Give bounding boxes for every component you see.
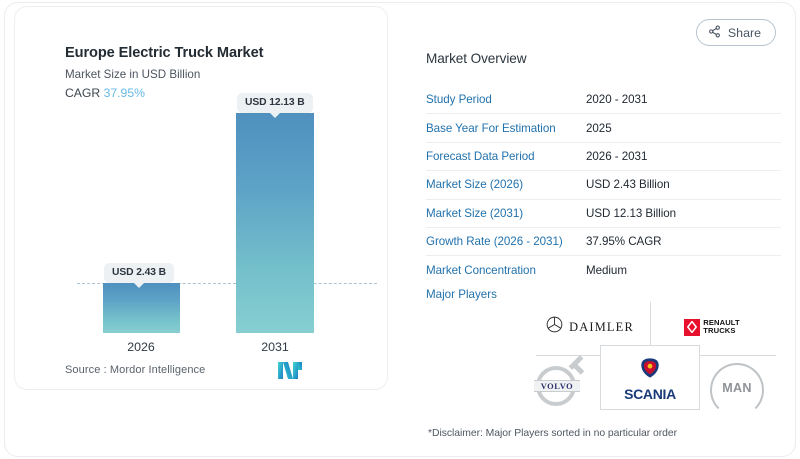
man-logo-inner: MAN	[708, 361, 766, 401]
scania-griffin-icon	[639, 357, 661, 384]
table-row: Forecast Data Period 2026 - 2031	[426, 143, 781, 171]
scania-logo: SCANIA	[602, 350, 698, 408]
volvo-wordmark: VOLVO	[541, 382, 574, 391]
row-value: 2025	[586, 122, 781, 135]
market-overview-title: Market Overview	[426, 51, 526, 66]
table-row: Market Size (2031) USD 12.13 Billion	[426, 200, 781, 228]
table-row: Base Year For Estimation 2025	[426, 114, 781, 142]
share-button-label: Share	[728, 26, 761, 40]
renault-diamond-icon	[684, 319, 700, 336]
x-tick-2026: 2026	[101, 339, 181, 355]
right-panel: Share Market Overview Study Period 2020 …	[404, 6, 792, 455]
source-row: Source : Mordor Intelligence	[65, 362, 355, 382]
table-row: Market Concentration Medium	[426, 256, 781, 284]
share-button[interactable]: Share	[696, 19, 776, 46]
row-value: Medium	[586, 264, 781, 277]
x-tick-2031: 2031	[235, 339, 315, 355]
row-key: Growth Rate (2026 - 2031)	[426, 235, 586, 248]
renault-wordmark: RENAULT TRUCKS	[703, 319, 739, 334]
daimler-logo-inner: DAIMLER	[546, 316, 634, 338]
bar-chart-plot: USD 2.43 B USD 12.13 B 2026 2031	[14, 6, 388, 390]
bar-2031[interactable]	[236, 113, 314, 333]
major-players-logo-grid: DAIMLER RENAULT TRUCKS	[524, 302, 776, 410]
man-wordmark: MAN	[708, 381, 766, 395]
page-root: Europe Electric Truck Market Market Size…	[0, 0, 800, 459]
row-value: 37.95% CAGR	[586, 235, 781, 248]
man-logo: MAN	[702, 354, 772, 408]
market-overview-table: Study Period 2020 - 2031 Base Year For E…	[426, 86, 781, 285]
row-key: Forecast Data Period	[426, 150, 586, 163]
bar-label-2026: USD 2.43 B	[104, 263, 174, 283]
row-key: Market Concentration	[426, 264, 586, 277]
volvo-logo-inner: VOLVO	[534, 358, 592, 404]
scania-wordmark: SCANIA	[624, 386, 676, 402]
row-key: Study Period	[426, 93, 586, 106]
row-key: Market Size (2031)	[426, 207, 586, 220]
bar-label-2031: USD 12.13 B	[237, 93, 313, 113]
scania-logo-inner: SCANIA	[624, 357, 676, 402]
row-key: Base Year For Estimation	[426, 122, 586, 135]
volvo-logo: VOLVO	[528, 354, 598, 408]
row-key: Market Size (2026)	[426, 178, 586, 191]
table-row: Growth Rate (2026 - 2031) 37.95% CAGR	[426, 228, 781, 256]
renault-line2: TRUCKS	[703, 327, 739, 335]
volvo-band: VOLVO	[534, 380, 580, 392]
daimler-logo: DAIMLER	[534, 308, 646, 346]
renault-logo-inner: RENAULT TRUCKS	[684, 319, 739, 336]
disclaimer-text: *Disclaimer: Major Players sorted in no …	[428, 428, 677, 439]
row-value: 2020 - 2031	[586, 93, 781, 106]
row-value: USD 2.43 Billion	[586, 178, 781, 191]
table-row: Study Period 2020 - 2031	[426, 86, 781, 114]
source-label: Source : Mordor Intelligence	[65, 364, 205, 376]
bar-2026[interactable]	[103, 283, 180, 333]
share-icon	[708, 25, 721, 41]
renault-trucks-logo: RENAULT TRUCKS	[656, 308, 768, 346]
mordor-intelligence-logo	[278, 362, 302, 379]
row-value: 2026 - 2031	[586, 150, 781, 163]
mercedes-star-icon	[546, 316, 563, 338]
daimler-wordmark: DAIMLER	[569, 320, 634, 335]
major-players-label: Major Players	[426, 288, 497, 301]
table-row: Market Size (2026) USD 2.43 Billion	[426, 171, 781, 199]
row-value: USD 12.13 Billion	[586, 207, 781, 220]
